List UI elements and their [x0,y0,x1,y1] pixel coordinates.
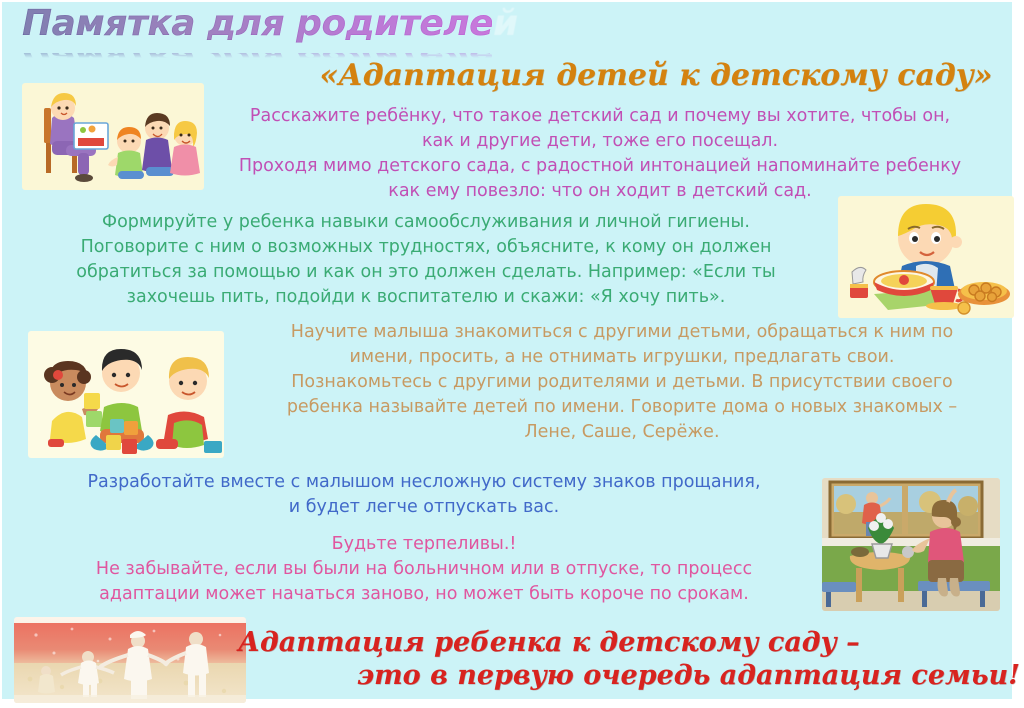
advice-paragraph-1: Расскажите ребёнку, что такое детский са… [176,104,1024,204]
advice-paragraph-3: Научите малыша знакомиться с другими дет… [222,320,1022,445]
footer-line-1: Адаптация ребенка к детскому саду – [200,626,1020,659]
page-title: Памятка для родителей Памятка для родите… [22,4,492,60]
girl-waving-at-window-illustration [822,478,1000,611]
page-title-text: Памятка для родителей [22,4,492,44]
poster-root: Памятка для родителей Памятка для родите… [0,0,1024,708]
footer-statement: Адаптация ребенка к детскому саду – это … [200,626,1020,692]
be-patient-callout: Будьте терпеливы.! [16,532,832,557]
advice-paragraph-4: Разработайте вместе с малышом несложную … [16,470,832,520]
advice-paragraph-2: Формируйте у ребенка навыки самообслужив… [16,210,836,310]
page-subtitle: «Адаптация детей к детскому саду» [300,58,1012,94]
boy-eating-at-table-illustration [838,196,1014,318]
children-playing-blocks-illustration [28,331,224,458]
advice-paragraph-5: Не забывайте, если вы были на больничном… [16,557,832,607]
footer-line-2: это в первую очередь адаптация семьи! [200,659,1020,692]
